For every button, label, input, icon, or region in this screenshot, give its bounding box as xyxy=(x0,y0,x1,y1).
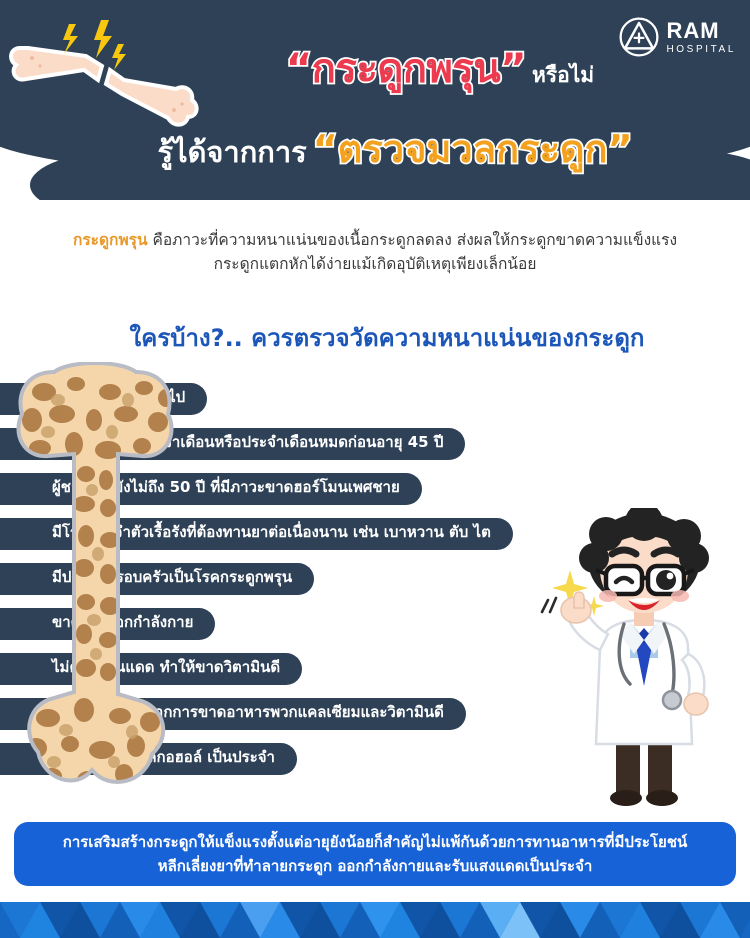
section-heading: ใครบ้าง?.. ควรตรวจวัดความหนาแน่นของกระดู… xyxy=(0,318,750,357)
intro-paragraph: กระดูกพรุน คือภาวะที่ความหนาแน่นของเนื้อ… xyxy=(40,228,710,276)
intro-line-2: กระดูกแตกหักได้ง่ายแม้เกิดอุบัติเหตุเพีย… xyxy=(40,252,710,276)
title-quote-close: ” xyxy=(500,46,526,92)
porous-bone-icon xyxy=(14,362,184,814)
title-line-2: รู้ได้จากการ“ตรวจมวลกระดูก” xyxy=(0,118,750,179)
header-banner: RAM HOSPITAL “กระดูกพรุน”หรือไม่ รู้ได้จ… xyxy=(0,0,750,200)
banner-line-2: หลีกเลี่ยงยาที่ทำลายกระดูก ออกกำลังกายแล… xyxy=(158,854,593,878)
infographic-page: RAM HOSPITAL “กระดูกพรุน”หรือไม่ รู้ได้จ… xyxy=(0,0,750,938)
footer-triangle-pattern xyxy=(0,902,750,938)
title-main: กระดูกพรุน xyxy=(312,46,501,92)
footer-mosaic xyxy=(0,902,750,938)
title-line-1: “กระดูกพรุน”หรือไม่ xyxy=(0,36,750,100)
banner-line-1: การเสริมสร้างกระดูกให้แข็งแรงตั้งแต่อายุ… xyxy=(63,830,688,854)
title-quote-open: “ xyxy=(286,46,312,92)
intro-line-1: คือภาวะที่ความหนาแน่นของเนื้อกระดูกลดลง … xyxy=(148,231,677,249)
doctor-character-icon xyxy=(538,508,746,808)
title-quote-close-2: ” xyxy=(608,127,633,171)
title-line2-main: ตรวจมวลกระดูก xyxy=(338,127,608,171)
title-suffix: หรือไม่ xyxy=(532,63,594,87)
bottom-banner: การเสริมสร้างกระดูกให้แข็งแรงตั้งแต่อายุ… xyxy=(14,822,736,886)
title-line2-prefix: รู้ได้จากการ xyxy=(157,135,306,169)
title-quote-open-2: “ xyxy=(313,127,338,171)
intro-highlight: กระดูกพรุน xyxy=(73,231,148,249)
